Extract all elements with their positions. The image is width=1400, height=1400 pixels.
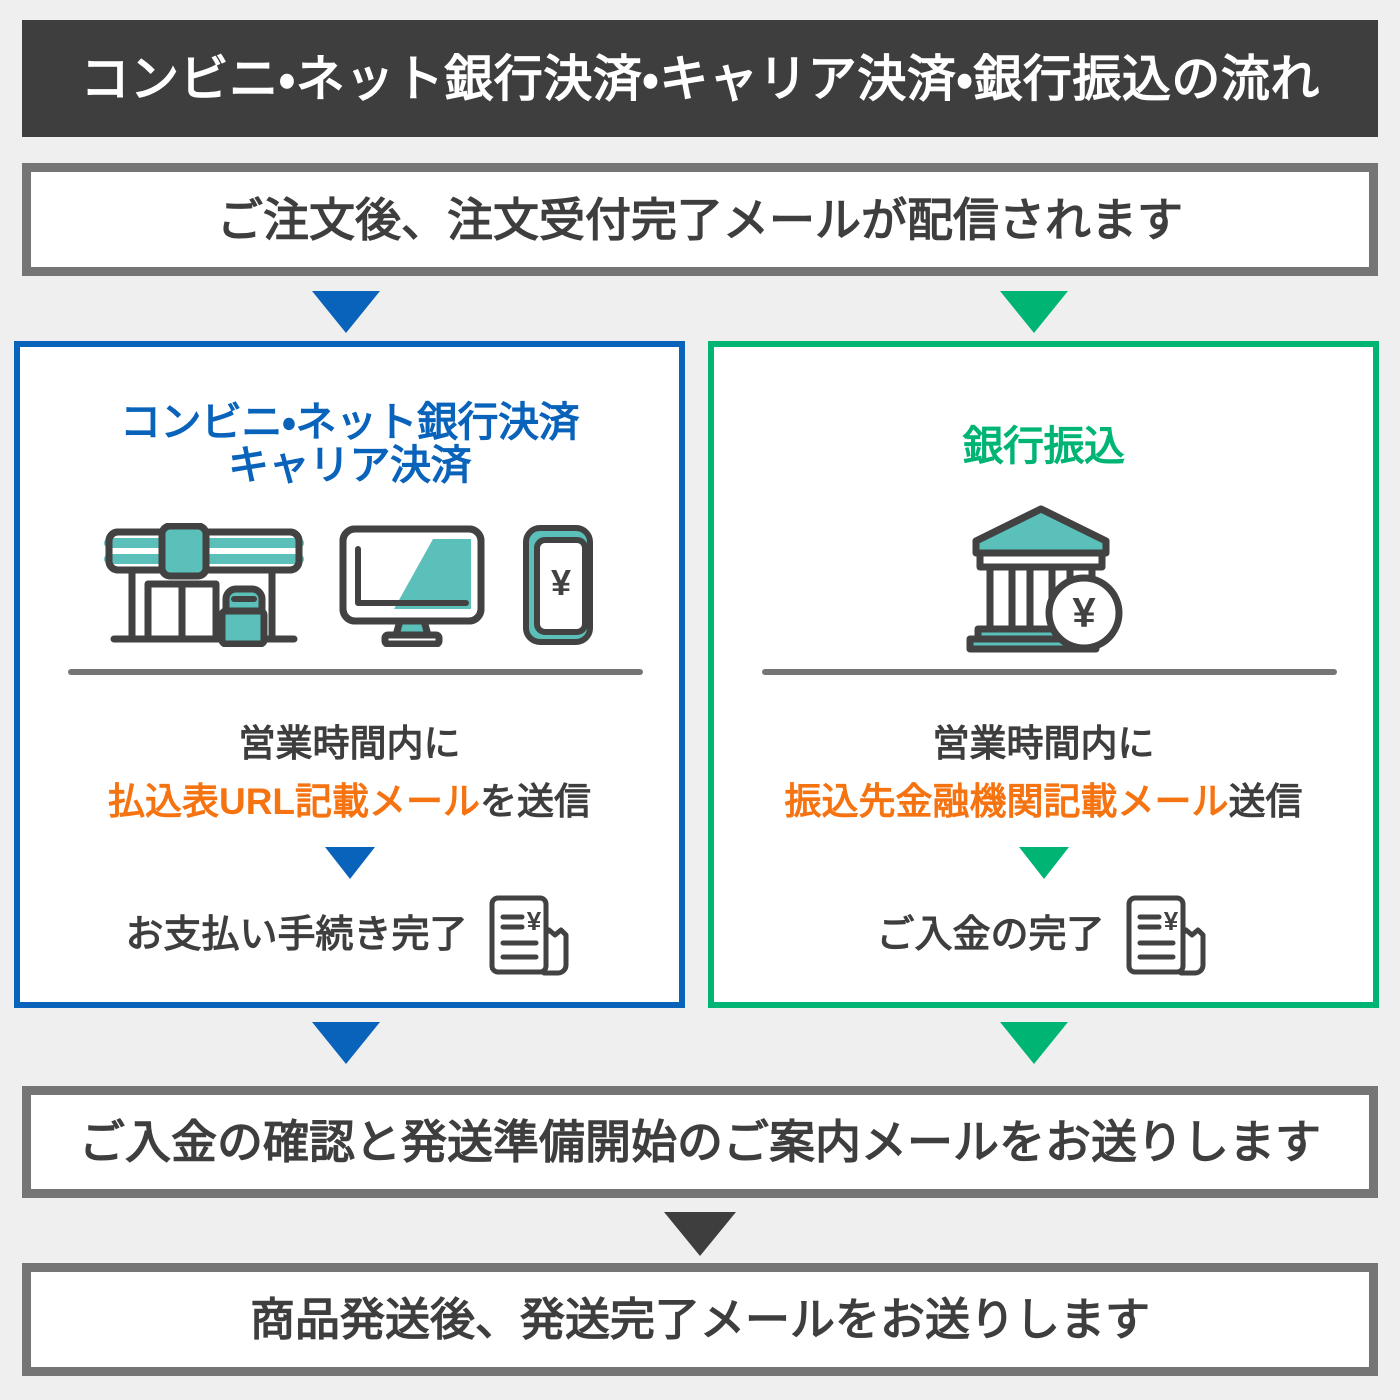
down-arrow-blue-top [312,291,380,333]
result-row-bank: ご入金の完了 ¥ [714,893,1373,977]
note-suffix-bank: 送信 [1229,781,1303,822]
down-arrow-blue-inner [325,847,375,879]
convenience-store-icon [104,523,304,647]
panel-convenience-payment: コンビニ・ネット銀行決済 キャリア決済 [14,341,685,1008]
step-text-order-received: ご注文後、注文受付完了メールが配信されます [217,197,1183,243]
note-line-2-convenience: 払込表URL記載メールを送信 [20,783,679,820]
panel-title-bank-line-1: 銀行振込 [714,425,1373,468]
note-highlight-bank: 振込先金融機関記載メール [785,781,1229,822]
result-text-convenience: お支払い手続き完了 [125,916,467,954]
panel-divider-bank [762,669,1337,675]
svg-text:¥: ¥ [1072,589,1096,636]
down-arrow-green-top [1000,291,1068,333]
result-text-bank: ご入金の完了 [876,916,1104,954]
payment-flow-diagram: コンビニ・ネット銀行決済・キャリア決済・銀行振込の流れ ご注文後、注文受付完了メ… [0,0,1400,1400]
panel-bank-transfer: 銀行振込 [708,341,1379,1008]
desktop-monitor-icon [338,523,486,647]
svg-text:¥: ¥ [526,906,541,936]
step-text-payment-confirmed: ご入金の確認と発送準備開始のご案内メールをお送りします [79,1119,1321,1165]
step-box-payment-confirmed: ご入金の確認と発送準備開始のご案内メールをお送りします [22,1086,1378,1198]
note-line-1-bank: 営業時間内に [714,725,1373,762]
step-box-order-received: ご注文後、注文受付完了メールが配信されます [22,163,1378,276]
note-line-2-bank: 振込先金融機関記載メール送信 [714,783,1373,820]
receipt-yen-icon: ¥ [1119,893,1211,977]
svg-text:¥: ¥ [1163,906,1178,936]
down-arrow-green-inner [1019,847,1069,879]
panel-divider-convenience [68,669,643,675]
panel-title-bank: 銀行振込 [714,425,1373,468]
convenience-icon-row: ¥ [20,523,679,647]
panel-title-convenience: コンビニ・ネット銀行決済 キャリア決済 [20,401,679,487]
smartphone-yen-icon: ¥ [520,523,596,647]
panel-title-line-2: キャリア決済 [20,444,679,487]
step-text-shipment-complete: 商品発送後、発送完了メールをお送りします [250,1297,1150,1342]
diagram-header-bar: コンビニ・ネット銀行決済・キャリア決済・銀行振込の流れ [22,20,1378,137]
result-row-convenience: お支払い手続き完了 ¥ [20,893,679,977]
step-box-shipment-complete: 商品発送後、発送完了メールをお送りします [22,1263,1378,1376]
svg-text:¥: ¥ [550,562,570,603]
note-suffix-convenience: を送信 [480,781,591,822]
note-line-1-convenience: 営業時間内に [20,725,679,762]
diagram-title: コンビニ・ネット銀行決済・キャリア決済・銀行振込の流れ [80,54,1319,104]
down-arrow-blue-bottom [312,1022,380,1064]
bank-icon-row: ¥ [714,503,1373,653]
down-arrow-green-bottom [1000,1022,1068,1064]
panel-title-line-1: コンビニ・ネット銀行決済 [20,401,679,444]
note-highlight-convenience: 払込表URL記載メール [108,781,480,822]
down-arrow-dark-final [664,1212,736,1256]
receipt-yen-icon: ¥ [482,893,574,977]
bank-building-yen-icon: ¥ [956,503,1132,653]
